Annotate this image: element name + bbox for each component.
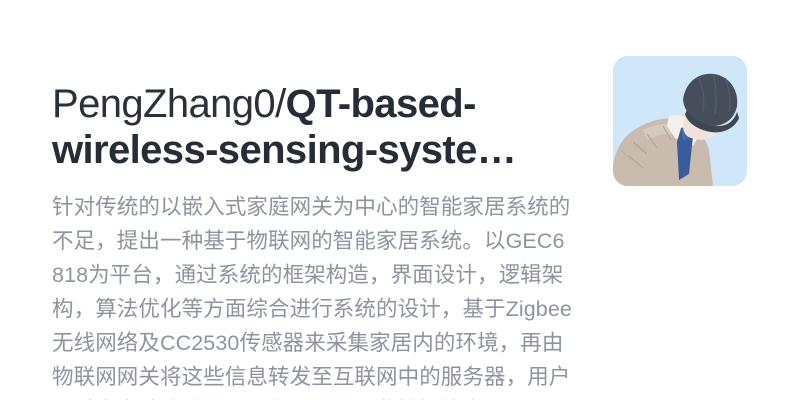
repo-description: 针对传统的以嵌入式家庭网关为中心的智能家居系统的不足，提出一种基于物联网的智能家…	[52, 190, 572, 400]
avatar-illustration-icon	[613, 56, 747, 186]
repository-preview-card: PengZhang0/QT-based-wireless-sensing-sys…	[0, 0, 800, 400]
repo-owner: PengZhang0/	[52, 82, 286, 126]
page-title: PengZhang0/QT-based-wireless-sensing-sys…	[52, 81, 552, 173]
avatar	[613, 56, 747, 186]
